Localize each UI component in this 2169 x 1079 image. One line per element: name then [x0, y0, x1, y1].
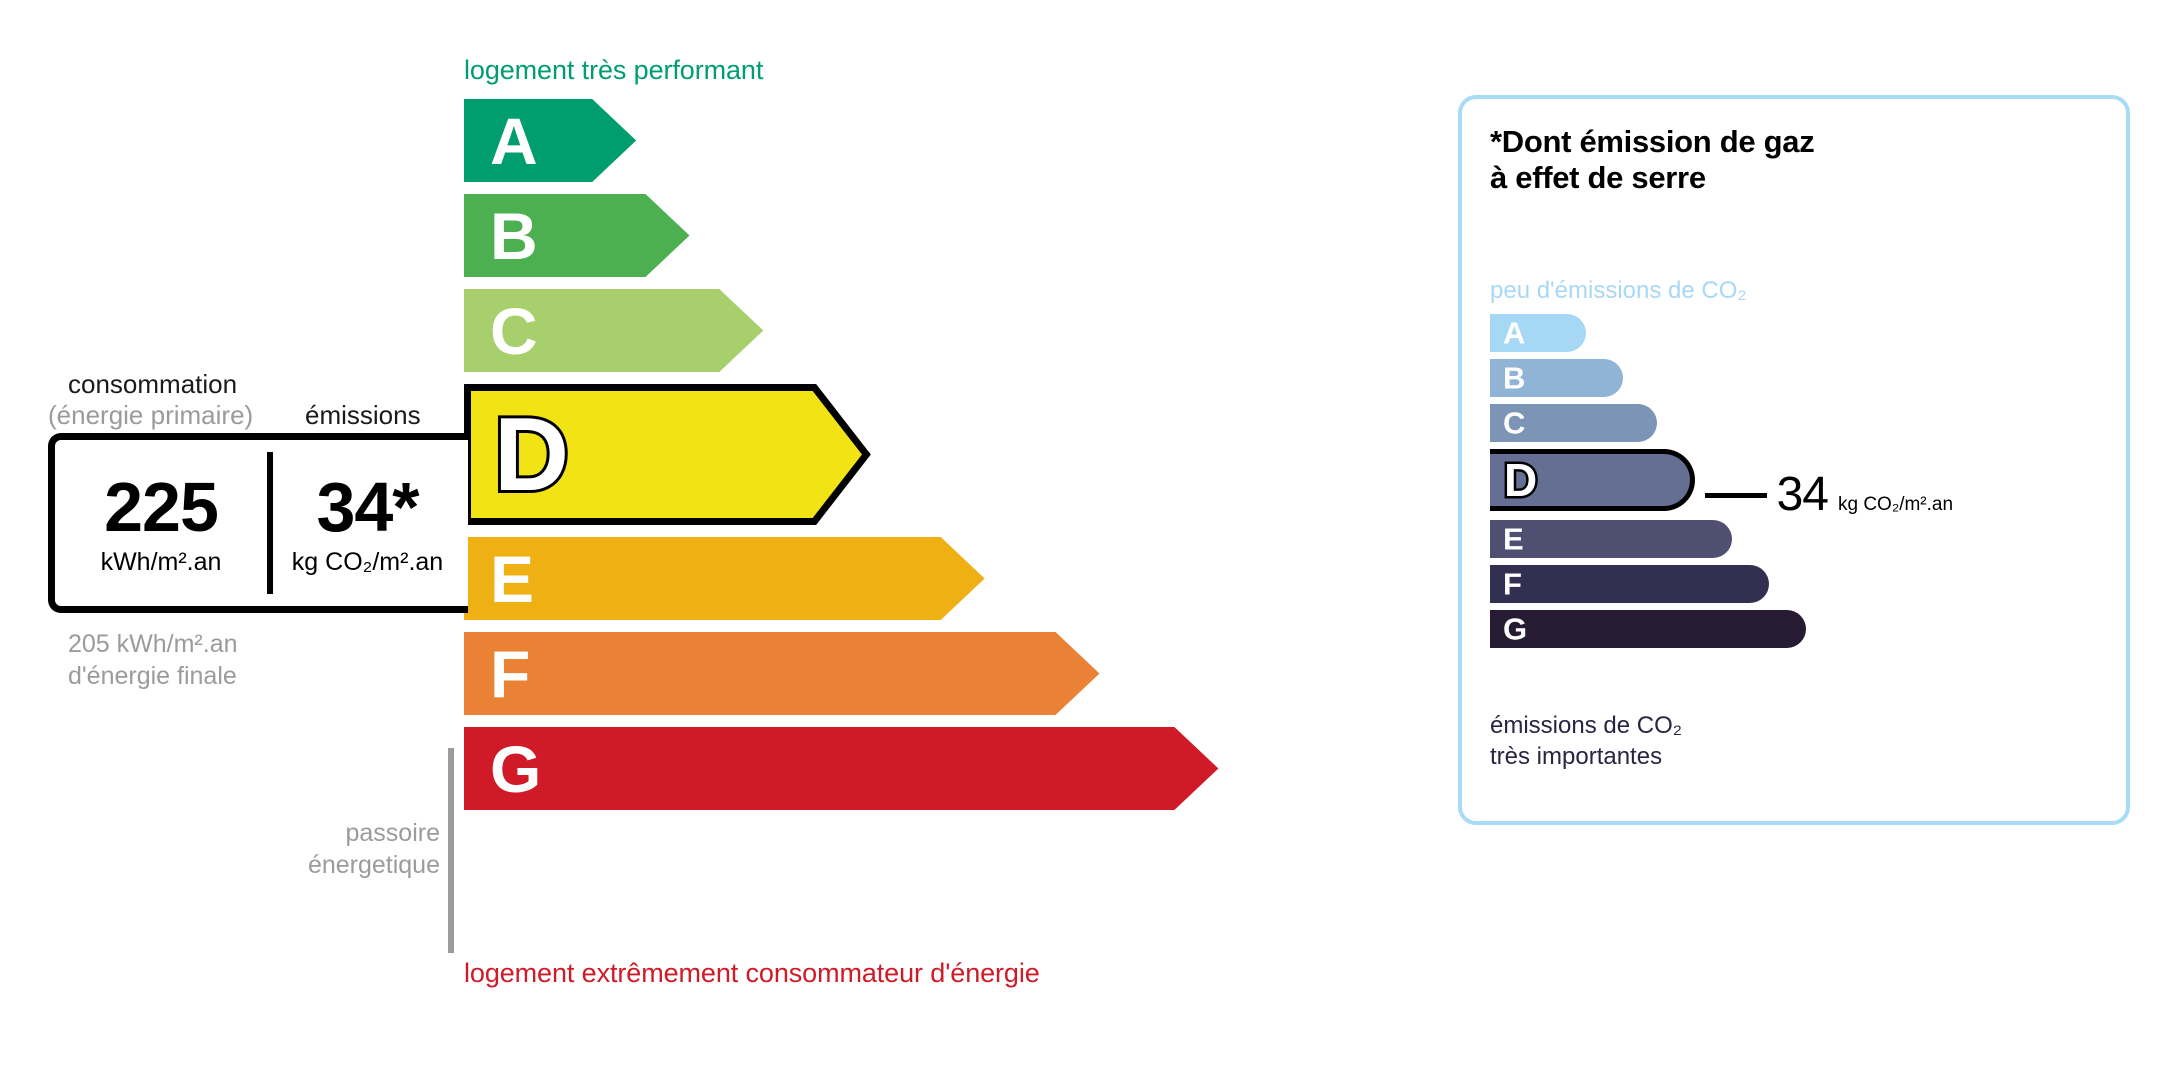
consumption-header-label: consommation	[68, 369, 237, 400]
emissions-value: 34*	[316, 472, 418, 542]
energy-grade-row-b: B	[464, 194, 1284, 277]
energy-grade-arrow-g: G	[464, 727, 1218, 810]
co2-grade-row-e: E	[1490, 520, 2110, 558]
co2-grade-bar-b: B	[1490, 359, 1623, 397]
co2-grade-row-a: A	[1490, 314, 2110, 352]
co2-grade-letter-d: D	[1504, 457, 1537, 503]
co2-grade-row-g: G	[1490, 610, 2110, 648]
energy-grade-letter-c: C	[490, 298, 538, 364]
energy-grade-letter-a: A	[490, 108, 538, 174]
energy-grade-row-a: A	[464, 99, 1284, 182]
co2-grade-bar-e: E	[1490, 520, 1732, 558]
energy-grade-arrow-d: D	[464, 384, 870, 525]
energy-grade-row-g: G	[464, 727, 1284, 810]
energy-grade-arrow-c: C	[464, 289, 763, 372]
co2-grade-row-d: D34kg CO₂/m².an	[1490, 449, 2110, 511]
energy-grade-letter-d: D	[494, 403, 569, 507]
co2-grade-bar-f: F	[1490, 565, 1769, 603]
energy-performance-panel: logement très performant ABCDEFG logemen…	[0, 0, 1380, 1079]
energy-grade-arrow-stack: ABCDEFG	[464, 99, 1284, 810]
energy-grade-row-c: C	[464, 289, 1284, 372]
co2-grade-bar-g: G	[1490, 610, 1806, 648]
energy-top-caption: logement très performant	[464, 55, 763, 86]
co2-grade-row-c: C	[1490, 404, 2110, 442]
final-energy-note: 205 kWh/m².and'énergie finale	[68, 628, 238, 692]
energy-grade-arrow-b: B	[464, 194, 690, 277]
emissions-unit: kg CO₂/m².an	[292, 550, 443, 575]
value-box-wrapper: 225 kWh/m².an 34* kg CO₂/m².an	[48, 433, 468, 613]
energy-grade-letter-e: E	[490, 546, 534, 612]
energy-grade-row-d: D	[464, 384, 1284, 525]
co2-grade-bar-a: A	[1490, 314, 1586, 352]
co2-panel-title: *Dont émission de gazà effet de serre	[1490, 124, 1814, 196]
value-box: 225 kWh/m².an 34* kg CO₂/m².an	[48, 433, 468, 613]
co2-grade-row-b: B	[1490, 359, 2110, 397]
co2-grade-letter-g: G	[1503, 614, 1527, 645]
energy-grade-row-f: F	[464, 632, 1284, 715]
energy-grade-letter-f: F	[490, 641, 530, 707]
co2-grade-letter-e: E	[1503, 524, 1524, 555]
co2-grade-row-f: F	[1490, 565, 2110, 603]
passoire-energetique-bracket	[448, 748, 454, 953]
consumption-value: 225	[104, 472, 218, 542]
energy-grade-letter-b: B	[490, 203, 538, 269]
emissions-header-label: émissions	[305, 400, 421, 431]
energy-grade-letter-g: G	[490, 736, 541, 802]
co2-grade-letter-b: B	[1503, 363, 1525, 394]
emissions-value-cell: 34* kg CO₂/m².an	[267, 440, 468, 606]
co2-grade-bar-d: D	[1490, 449, 1695, 511]
energy-grade-arrow-f: F	[464, 632, 1100, 715]
co2-grade-letter-f: F	[1503, 569, 1522, 600]
consumption-subheader-label: (énergie primaire)	[48, 400, 253, 431]
energy-grade-row-e: E	[464, 537, 1284, 620]
passoire-energetique-label: passoireénergetique	[250, 817, 440, 881]
energy-bottom-caption: logement extrêmement consommateur d'éner…	[464, 958, 1040, 989]
consumption-unit: kWh/m².an	[101, 550, 222, 575]
co2-grade-letter-a: A	[1503, 318, 1525, 349]
co2-callout-unit: kg CO₂/m².an	[1838, 494, 1953, 516]
co2-grade-bar-c: C	[1490, 404, 1657, 442]
co2-emissions-panel: *Dont émission de gazà effet de serre pe…	[1458, 95, 2130, 825]
consumption-value-cell: 225 kWh/m².an	[55, 440, 267, 606]
co2-value-callout: 34kg CO₂/m².an	[1705, 471, 1953, 519]
co2-bottom-caption: émissions de CO₂très importantes	[1490, 711, 1682, 772]
co2-callout-leader-line	[1705, 493, 1767, 498]
co2-top-caption: peu d'émissions de CO₂	[1490, 277, 1747, 305]
energy-grade-arrow-a: A	[464, 99, 636, 182]
energy-grade-arrow-e: E	[464, 537, 985, 620]
co2-grade-bar-stack: ABCD34kg CO₂/m².anEFG	[1490, 314, 2110, 655]
co2-callout-value: 34	[1777, 471, 1828, 519]
co2-grade-letter-c: C	[1503, 408, 1525, 439]
